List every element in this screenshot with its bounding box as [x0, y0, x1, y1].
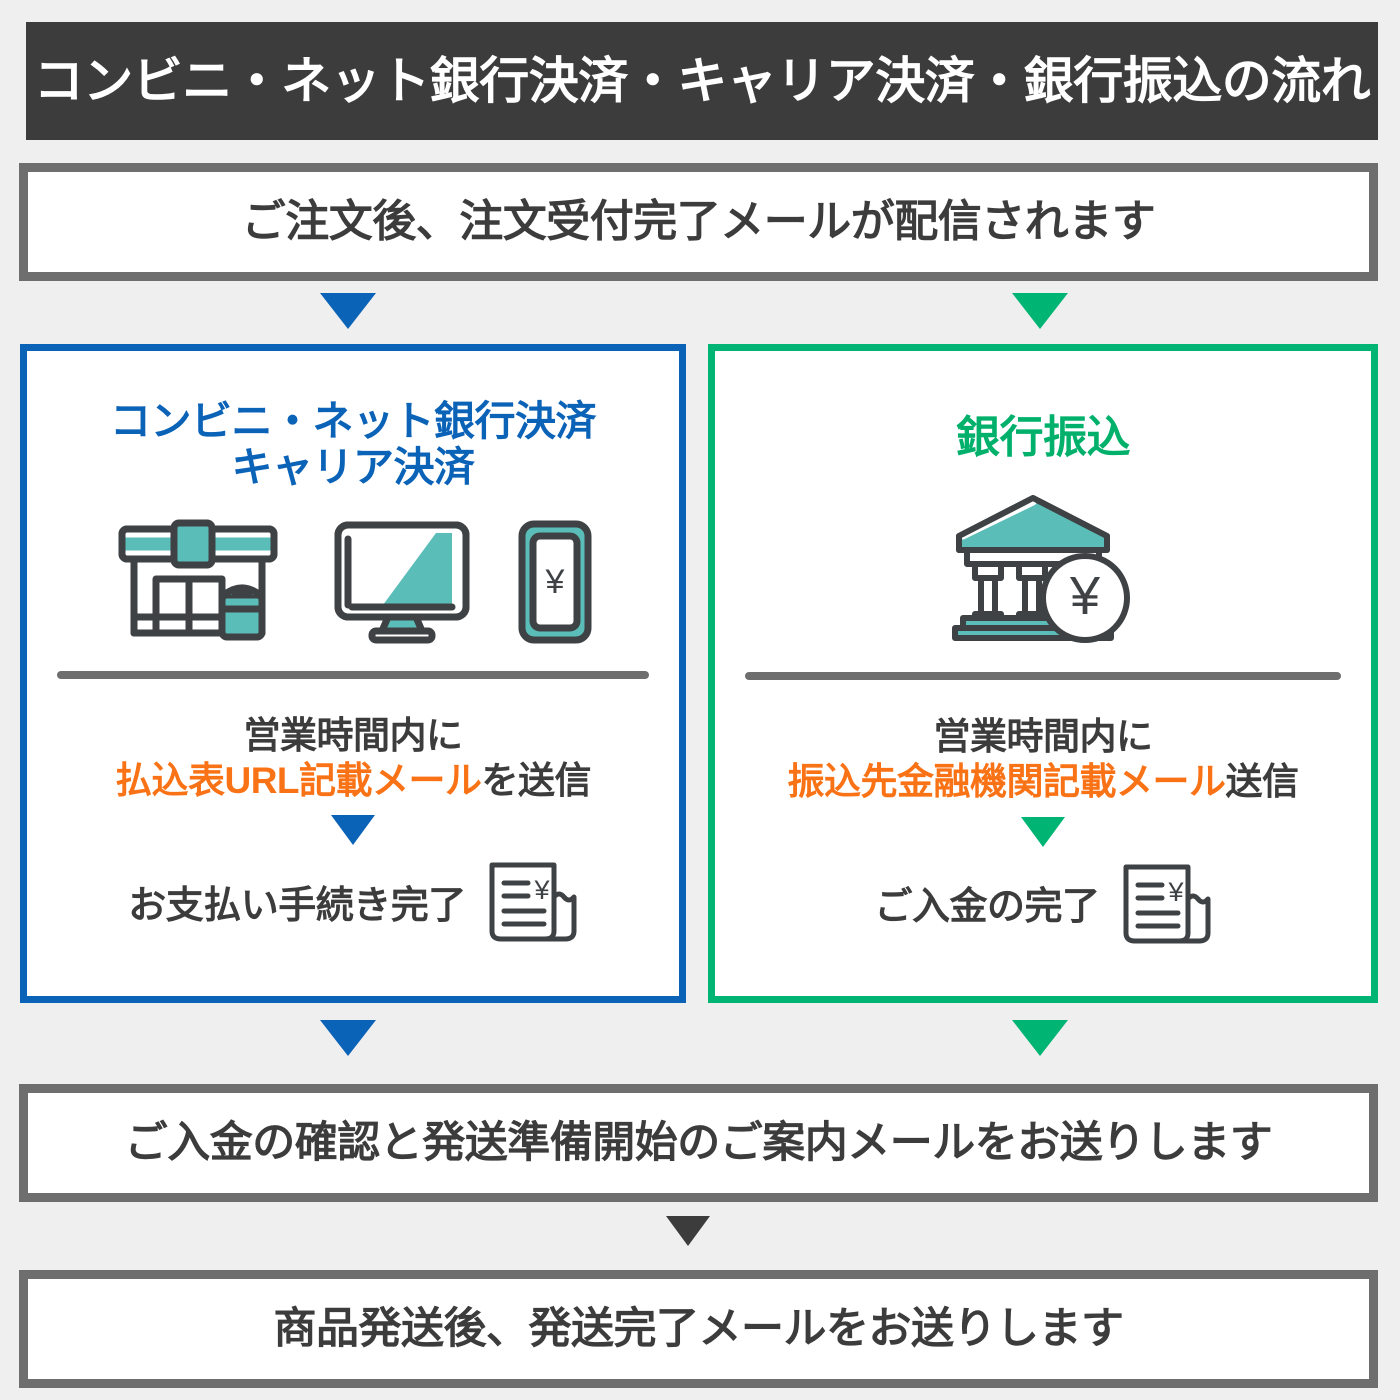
- bank-notice-line2: 振込先金融機関記載メール送信: [715, 759, 1371, 804]
- diagram-canvas: コンビニ・ネット銀行決済・キャリア決済・銀行振込の流れ ご注文後、注文受付完了メ…: [0, 0, 1400, 1400]
- arrow-down-from-conveni-icon: [320, 1020, 376, 1056]
- conveni-mid-arrow-wrap: [27, 815, 679, 845]
- bank-building-yen-icon: ¥: [945, 488, 1141, 646]
- conveni-notice: 営業時間内に 払込表URL記載メールを送信: [27, 713, 679, 803]
- bank-mid-arrow-wrap: [715, 817, 1371, 847]
- step-shipped-label: 商品発送後、発送完了メールをお送りします: [274, 1308, 1124, 1351]
- panel-bank-title-line1: 銀行振込: [715, 413, 1371, 462]
- convenience-store-icon: [112, 517, 288, 645]
- bank-icon-row: ¥: [715, 486, 1371, 646]
- header-bar: コンビニ・ネット銀行決済・キャリア決済・銀行振込の流れ: [26, 22, 1378, 140]
- svg-text:¥: ¥: [545, 563, 565, 601]
- step-box-payment-confirmation: ご入金の確認と発送準備開始のご案内メールをお送りします: [19, 1084, 1378, 1202]
- conveni-icon-row: ¥: [27, 513, 679, 645]
- bank-notice-highlight: 振込先金融機関記載メール: [788, 761, 1226, 802]
- svg-text:¥: ¥: [533, 875, 550, 905]
- bank-final-row: ご入金の完了 ¥: [715, 855, 1371, 951]
- conveni-notice-line1: 営業時間内に: [27, 713, 679, 758]
- conveni-final-row: お支払い手続き完了 ¥: [27, 853, 679, 949]
- svg-text:¥: ¥: [1069, 566, 1101, 626]
- panel-convenience-payment: コンビニ・ネット銀行決済 キャリア決済: [20, 344, 686, 1003]
- conveni-notice-highlight: 払込表URL記載メール: [115, 760, 482, 801]
- bank-notice-suffix: 送信: [1226, 761, 1299, 802]
- step-confirm-label: ご入金の確認と発送準備開始のご案内メールをお送りします: [125, 1122, 1273, 1165]
- bank-notice-line1: 営業時間内に: [715, 714, 1371, 759]
- panel-conveni-title-line1: コンビニ・ネット銀行決済: [27, 399, 679, 445]
- conveni-notice-line2: 払込表URL記載メールを送信: [27, 758, 679, 803]
- panel-conveni-title: コンビニ・ネット銀行決済 キャリア決済: [27, 399, 679, 491]
- conveni-notice-suffix: を送信: [482, 760, 592, 801]
- arrow-down-conveni-icon: [331, 815, 375, 845]
- arrow-down-to-shipped-icon: [666, 1216, 710, 1246]
- panel-bank-title: 銀行振込: [715, 413, 1371, 462]
- arrow-down-from-bank-icon: [1012, 1020, 1068, 1056]
- step-order-label: ご注文後、注文受付完了メールが配信されます: [242, 200, 1156, 244]
- desktop-monitor-icon: [332, 519, 472, 645]
- bank-divider: [745, 672, 1341, 680]
- bank-notice: 営業時間内に 振込先金融機関記載メール送信: [715, 714, 1371, 804]
- receipt-yen-icon: ¥: [1114, 855, 1212, 951]
- arrow-down-bank-icon: [1021, 817, 1065, 847]
- step-box-shipping-notice: 商品発送後、発送完了メールをお送りします: [19, 1270, 1378, 1388]
- panel-conveni-title-line2: キャリア決済: [27, 445, 679, 491]
- receipt-yen-icon: ¥: [480, 853, 578, 949]
- bank-final-label: ご入金の完了: [874, 875, 1099, 930]
- conveni-divider: [57, 671, 649, 679]
- arrow-down-to-bank-icon: [1012, 293, 1068, 329]
- smartphone-yen-icon: ¥: [516, 519, 594, 645]
- conveni-final-label: お支払い手続き完了: [128, 874, 466, 929]
- step-box-order: ご注文後、注文受付完了メールが配信されます: [19, 163, 1378, 281]
- arrow-down-to-conveni-icon: [320, 293, 376, 329]
- page-title: コンビニ・ネット銀行決済・キャリア決済・銀行振込の流れ: [34, 56, 1371, 106]
- svg-text:¥: ¥: [1167, 877, 1184, 907]
- panel-bank-transfer: 銀行振込: [708, 344, 1378, 1003]
